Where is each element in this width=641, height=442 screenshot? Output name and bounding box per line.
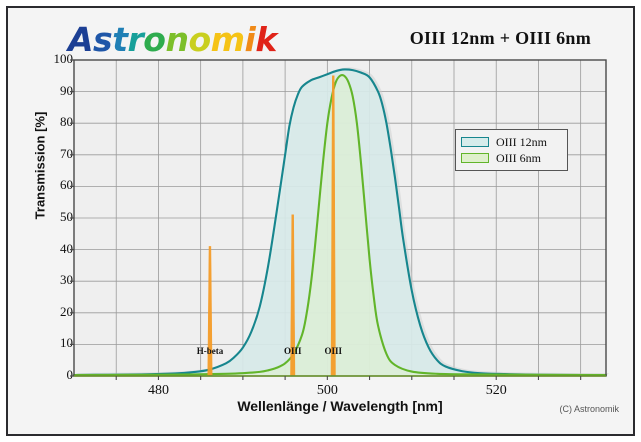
legend-swatch-icon (461, 137, 489, 147)
legend-item: OIII 6nm (461, 150, 562, 166)
chart-screenshot: Astronomik OIII 12nm + OIII 6nm Transmis… (0, 0, 641, 442)
x-tick-label: 480 (128, 383, 188, 399)
emission-line-label: H-beta (197, 346, 224, 356)
emission-line-label: OIII (324, 346, 342, 356)
plot-canvas (8, 8, 637, 438)
chart-legend: OIII 12nm OIII 6nm (455, 129, 568, 171)
legend-label: OIII 12nm (496, 135, 547, 150)
x-tick-label: 520 (466, 383, 526, 399)
emission-line-label: OIII (284, 346, 302, 356)
copyright-credit: (C) Astronomik (559, 404, 619, 414)
x-axis-label: Wellenlänge / Wavelength [nm] (74, 398, 606, 414)
legend-item: OIII 12nm (461, 134, 562, 150)
plot-area-wrapper: Transmission [%] 0102030405060708090100 … (8, 8, 637, 438)
x-tick-label: 500 (297, 383, 357, 399)
chart-frame: Astronomik OIII 12nm + OIII 6nm Transmis… (6, 6, 635, 436)
legend-swatch-icon (461, 153, 489, 163)
legend-label: OIII 6nm (496, 151, 541, 166)
